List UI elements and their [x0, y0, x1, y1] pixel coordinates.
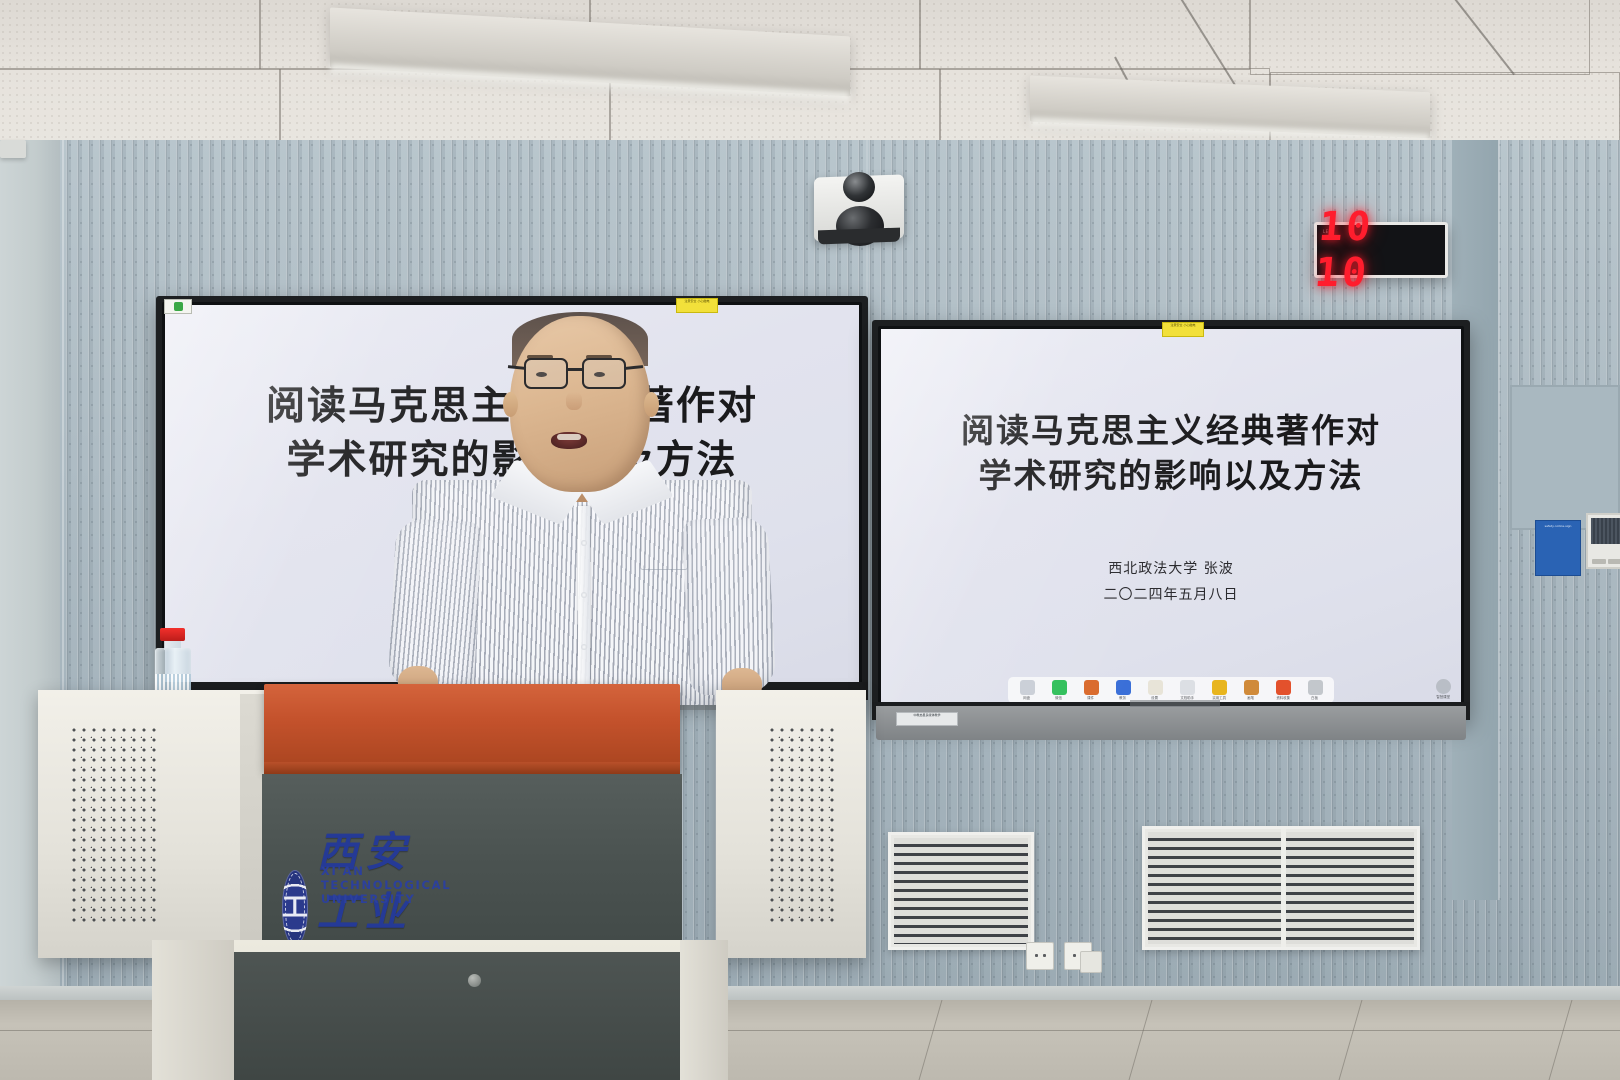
wall-sign-text: safety-notice-sign	[1536, 521, 1580, 532]
lectern-leg	[152, 940, 234, 1080]
presenter-shirt-placket	[578, 506, 590, 706]
lectern-lock-knob[interactable]	[468, 974, 481, 987]
wall-outlet-3[interactable]	[1080, 951, 1102, 973]
speaker-grille	[72, 728, 158, 924]
lectern-wood-top	[264, 684, 680, 772]
presenter-ear	[644, 392, 659, 417]
right-display-panel: 阅读马克思主义经典著作对 学术研究的影响以及方法 西北政法大学 张波 二〇二四年…	[881, 329, 1461, 711]
wall-recessed-panel	[1510, 385, 1620, 530]
presenter-mouth	[551, 432, 587, 449]
air-vent-left	[888, 832, 1034, 950]
right-display-housing	[876, 706, 1466, 740]
bottle-label	[155, 674, 191, 690]
led-wall-clock: LED 10 10	[1314, 222, 1448, 278]
right-display-bottom-tag: 中教启星多媒体教学	[896, 712, 958, 726]
presenter-shirt-pocket	[640, 534, 688, 570]
control-panel-screen	[1591, 518, 1620, 544]
lectern-leg	[680, 940, 728, 1080]
air-vent-right	[1142, 826, 1420, 950]
right-display-warning-sticker: 注意安全 小心触电	[1162, 322, 1204, 337]
presenter-right-arm	[681, 516, 776, 696]
camera-lens-icon	[843, 172, 875, 202]
university-seal-icon: 工	[282, 870, 308, 946]
right-display[interactable]: 阅读马克思主义经典著作对 学术研究的影响以及方法 西北政法大学 张波 二〇二四年…	[872, 320, 1470, 720]
control-panel-buttons[interactable]	[1592, 559, 1620, 564]
clock-display: 10 10	[1313, 204, 1449, 296]
lecture-hall-photo: safety-notice-sign LED 10 10 阅读马克思主义经典著作…	[0, 0, 1620, 1080]
wall-outlet-1[interactable]	[1026, 942, 1054, 970]
left-display-corner-sticker	[164, 299, 192, 314]
ac-control-panel[interactable]	[1586, 513, 1620, 569]
safety-notice-sign: safety-notice-sign	[1535, 520, 1581, 576]
seal-character: 工	[275, 888, 315, 928]
bottle-cap	[160, 628, 185, 641]
presenter-left-arm	[388, 518, 483, 694]
university-name-en: XI'AN TECHNOLOGICAL UNIVERSITY	[321, 864, 451, 906]
left-display-warning-sticker: 注意安全 小心触电	[676, 298, 718, 313]
lectern-base-panel	[232, 952, 682, 1080]
speaker-grille	[770, 728, 834, 924]
wall-sensor	[0, 140, 26, 158]
presenter-ear	[503, 392, 518, 417]
